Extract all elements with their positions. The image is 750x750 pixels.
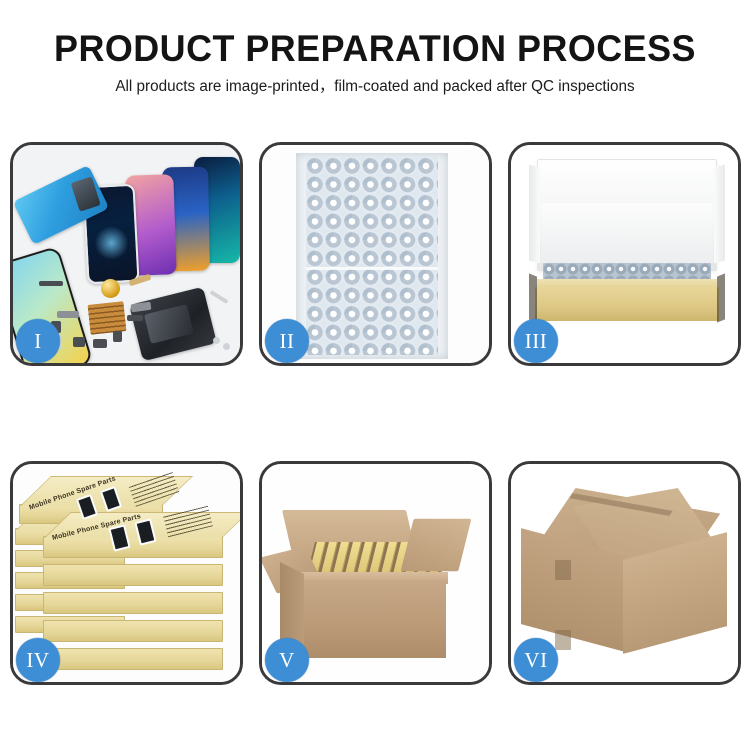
part-strip-icon — [39, 281, 63, 286]
grill-mesh-part-icon — [88, 301, 127, 335]
part-vibrator-icon — [113, 331, 122, 342]
part-camera-icon — [73, 337, 85, 347]
carton-handle-tab-icon — [555, 560, 571, 580]
steps-grid: I II III — [10, 142, 741, 685]
step-panel-1[interactable]: I — [10, 142, 243, 366]
page-title: PRODUCT PREPARATION PROCESS — [11, 26, 739, 72]
carton-handle-tab-icon — [555, 630, 571, 650]
step-panel-4[interactable]: Mobile Phone Spare Parts Mobile Phone Sp… — [10, 461, 243, 685]
step-badge-3: III — [514, 319, 558, 363]
kraft-box-front — [43, 564, 223, 586]
step-panel-2[interactable]: II — [259, 142, 492, 366]
screw-icon — [223, 343, 230, 350]
kraft-box-front — [43, 536, 223, 558]
screw-icon — [213, 337, 220, 344]
kraft-box-front — [43, 592, 223, 614]
bubble-wrap-icon — [306, 157, 438, 355]
header: PRODUCT PREPARATION PROCESS All products… — [0, 26, 750, 97]
step-badge-1: I — [16, 319, 60, 363]
step-badge-2: II — [265, 319, 309, 363]
step-badge-5: V — [265, 638, 309, 682]
product-preparation-infographic: PRODUCT PREPARATION PROCESS All products… — [0, 0, 750, 750]
page-subtitle: All products are image-printed，film-coat… — [6, 77, 745, 97]
step-badge-4: IV — [16, 638, 60, 682]
carton-body-icon — [302, 580, 446, 658]
part-button-icon — [127, 315, 143, 321]
speaker-part-icon — [101, 279, 120, 298]
kraft-box-front — [43, 648, 223, 670]
kraft-box-front — [43, 620, 223, 642]
step-panel-3[interactable]: III — [508, 142, 741, 366]
kraft-box-front-icon — [535, 287, 719, 321]
part-bracket-icon — [57, 311, 79, 318]
step-panel-6[interactable]: VI — [508, 461, 741, 685]
step-badge-6: VI — [514, 638, 558, 682]
foam-sheet-icon — [541, 203, 713, 263]
wrap-seam-icon — [306, 267, 438, 270]
part-module-icon — [93, 339, 107, 348]
step-panel-5[interactable]: V — [259, 461, 492, 685]
